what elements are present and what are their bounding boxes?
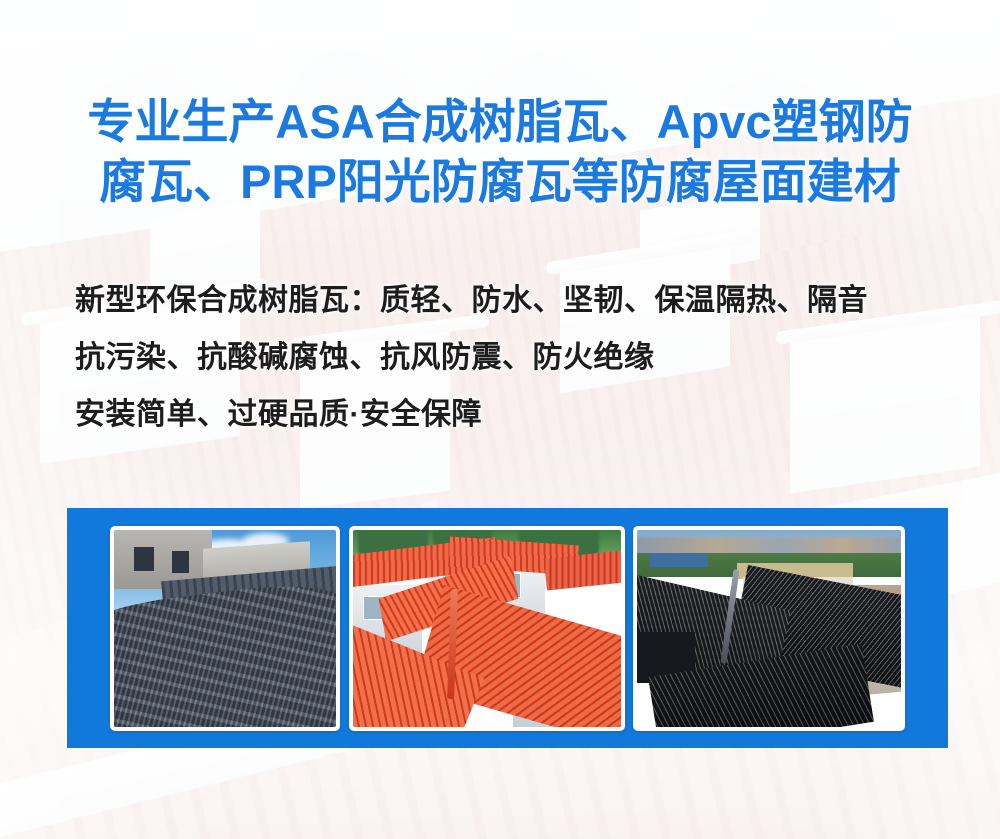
black-roof-photo-inner — [637, 530, 901, 727]
black-resin-tile-roof-photo[interactable] — [633, 526, 905, 731]
subheadline: 新型环保合成树脂瓦：质轻、防水、坚韧、保温隔热、隔音 抗污染、抗酸碱腐蚀、抗风防… — [75, 272, 868, 443]
grey-roof-photo-inner — [114, 530, 336, 727]
headline-line-2: 腐瓦、PRP阳光防腐瓦等防腐屋面建材 — [0, 152, 1000, 212]
red-resin-tile-roof-photo[interactable] — [349, 526, 625, 731]
black-photo-blue-roof-shed — [650, 553, 708, 567]
subheadline-line-3: 安装简单、过硬品质·安全保障 — [75, 386, 868, 443]
red-roof-photo-inner — [353, 530, 621, 727]
subheadline-line-1: 新型环保合成树脂瓦：质轻、防水、坚韧、保温隔热、隔音 — [75, 272, 868, 329]
product-promo-banner: 专业生产ASA合成树脂瓦、Apvc塑钢防 腐瓦、PRP阳光防腐瓦等防腐屋面建材 … — [0, 0, 1000, 839]
grey-photo-window-2 — [172, 551, 190, 573]
photo-gallery-panel — [67, 508, 948, 748]
grey-resin-tile-roof-photo[interactable] — [110, 526, 340, 731]
headline-line-1: 专业生产ASA合成树脂瓦、Apvc塑钢防 — [0, 92, 1000, 152]
subheadline-line-2: 抗污染、抗酸碱腐蚀、抗风防震、防火绝缘 — [75, 329, 868, 386]
headline: 专业生产ASA合成树脂瓦、Apvc塑钢防 腐瓦、PRP阳光防腐瓦等防腐屋面建材 — [0, 92, 1000, 212]
banner-content: 专业生产ASA合成树脂瓦、Apvc塑钢防 腐瓦、PRP阳光防腐瓦等防腐屋面建材 … — [0, 0, 1000, 839]
grey-photo-window-1 — [134, 547, 154, 571]
